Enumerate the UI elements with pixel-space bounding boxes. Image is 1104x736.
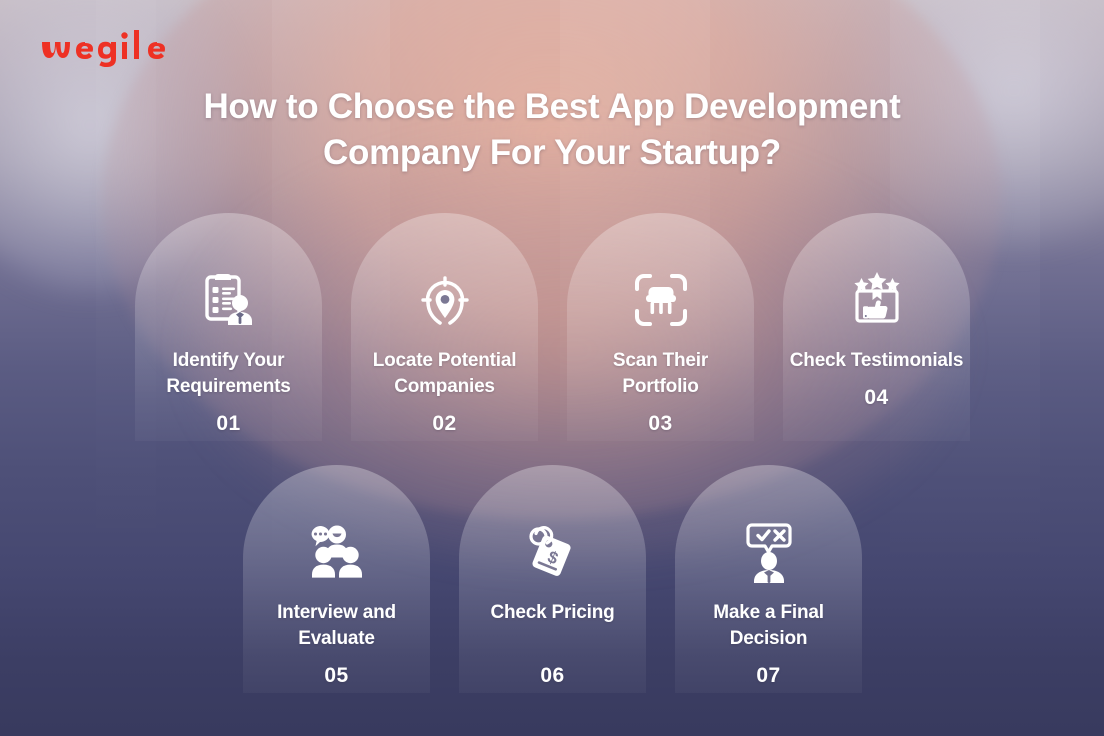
price-tag-icon: $: [521, 520, 585, 584]
step-card-label: Interview and Evaluate: [243, 600, 430, 652]
page-title-line-2: Company For Your Startup?: [80, 130, 1024, 176]
step-card-label: Locate Potential Companies: [351, 348, 538, 400]
step-card-number: 06: [540, 664, 564, 688]
step-card-07[interactable]: Make a Final Decision 07: [675, 465, 862, 693]
step-card-number: 05: [324, 664, 348, 688]
location-target-icon: [413, 268, 477, 332]
step-card-number: 04: [864, 386, 888, 410]
clipboard-person-icon: [197, 268, 261, 332]
page-title-line-1: How to Choose the Best App Development: [80, 84, 1024, 130]
step-card-label: Check Pricing: [459, 600, 646, 626]
page-title: How to Choose the Best App Development C…: [0, 84, 1104, 176]
step-card-label: Check Testimonials: [783, 348, 970, 374]
step-card-label: Scan Their Portfolio: [567, 348, 754, 400]
scan-portfolio-icon: [629, 268, 693, 332]
decision-person-icon: [737, 520, 801, 584]
step-card-number: 02: [432, 412, 456, 436]
step-card-04[interactable]: Check Testimonials 04: [783, 213, 970, 441]
wegile-logo-wordmark: [40, 28, 185, 72]
step-card-01[interactable]: Identify Your Requirements 01: [135, 213, 322, 441]
step-card-number: 03: [648, 412, 672, 436]
wegile-logo[interactable]: [40, 28, 185, 79]
infographic-canvas: How to Choose the Best App Development C…: [0, 0, 1104, 736]
step-card-number: 07: [756, 664, 780, 688]
stars-thumbsup-icon: [845, 268, 909, 332]
step-card-06[interactable]: $ Check Pricing 06: [459, 465, 646, 693]
step-card-label: Make a Final Decision: [675, 600, 862, 652]
step-card-02[interactable]: Locate Potential Companies 02: [351, 213, 538, 441]
step-card-number: 01: [216, 412, 240, 436]
people-chat-icon: [305, 520, 369, 584]
step-card-label: Identify Your Requirements: [135, 348, 322, 400]
step-card-05[interactable]: Interview and Evaluate 05: [243, 465, 430, 693]
step-card-03[interactable]: Scan Their Portfolio 03: [567, 213, 754, 441]
